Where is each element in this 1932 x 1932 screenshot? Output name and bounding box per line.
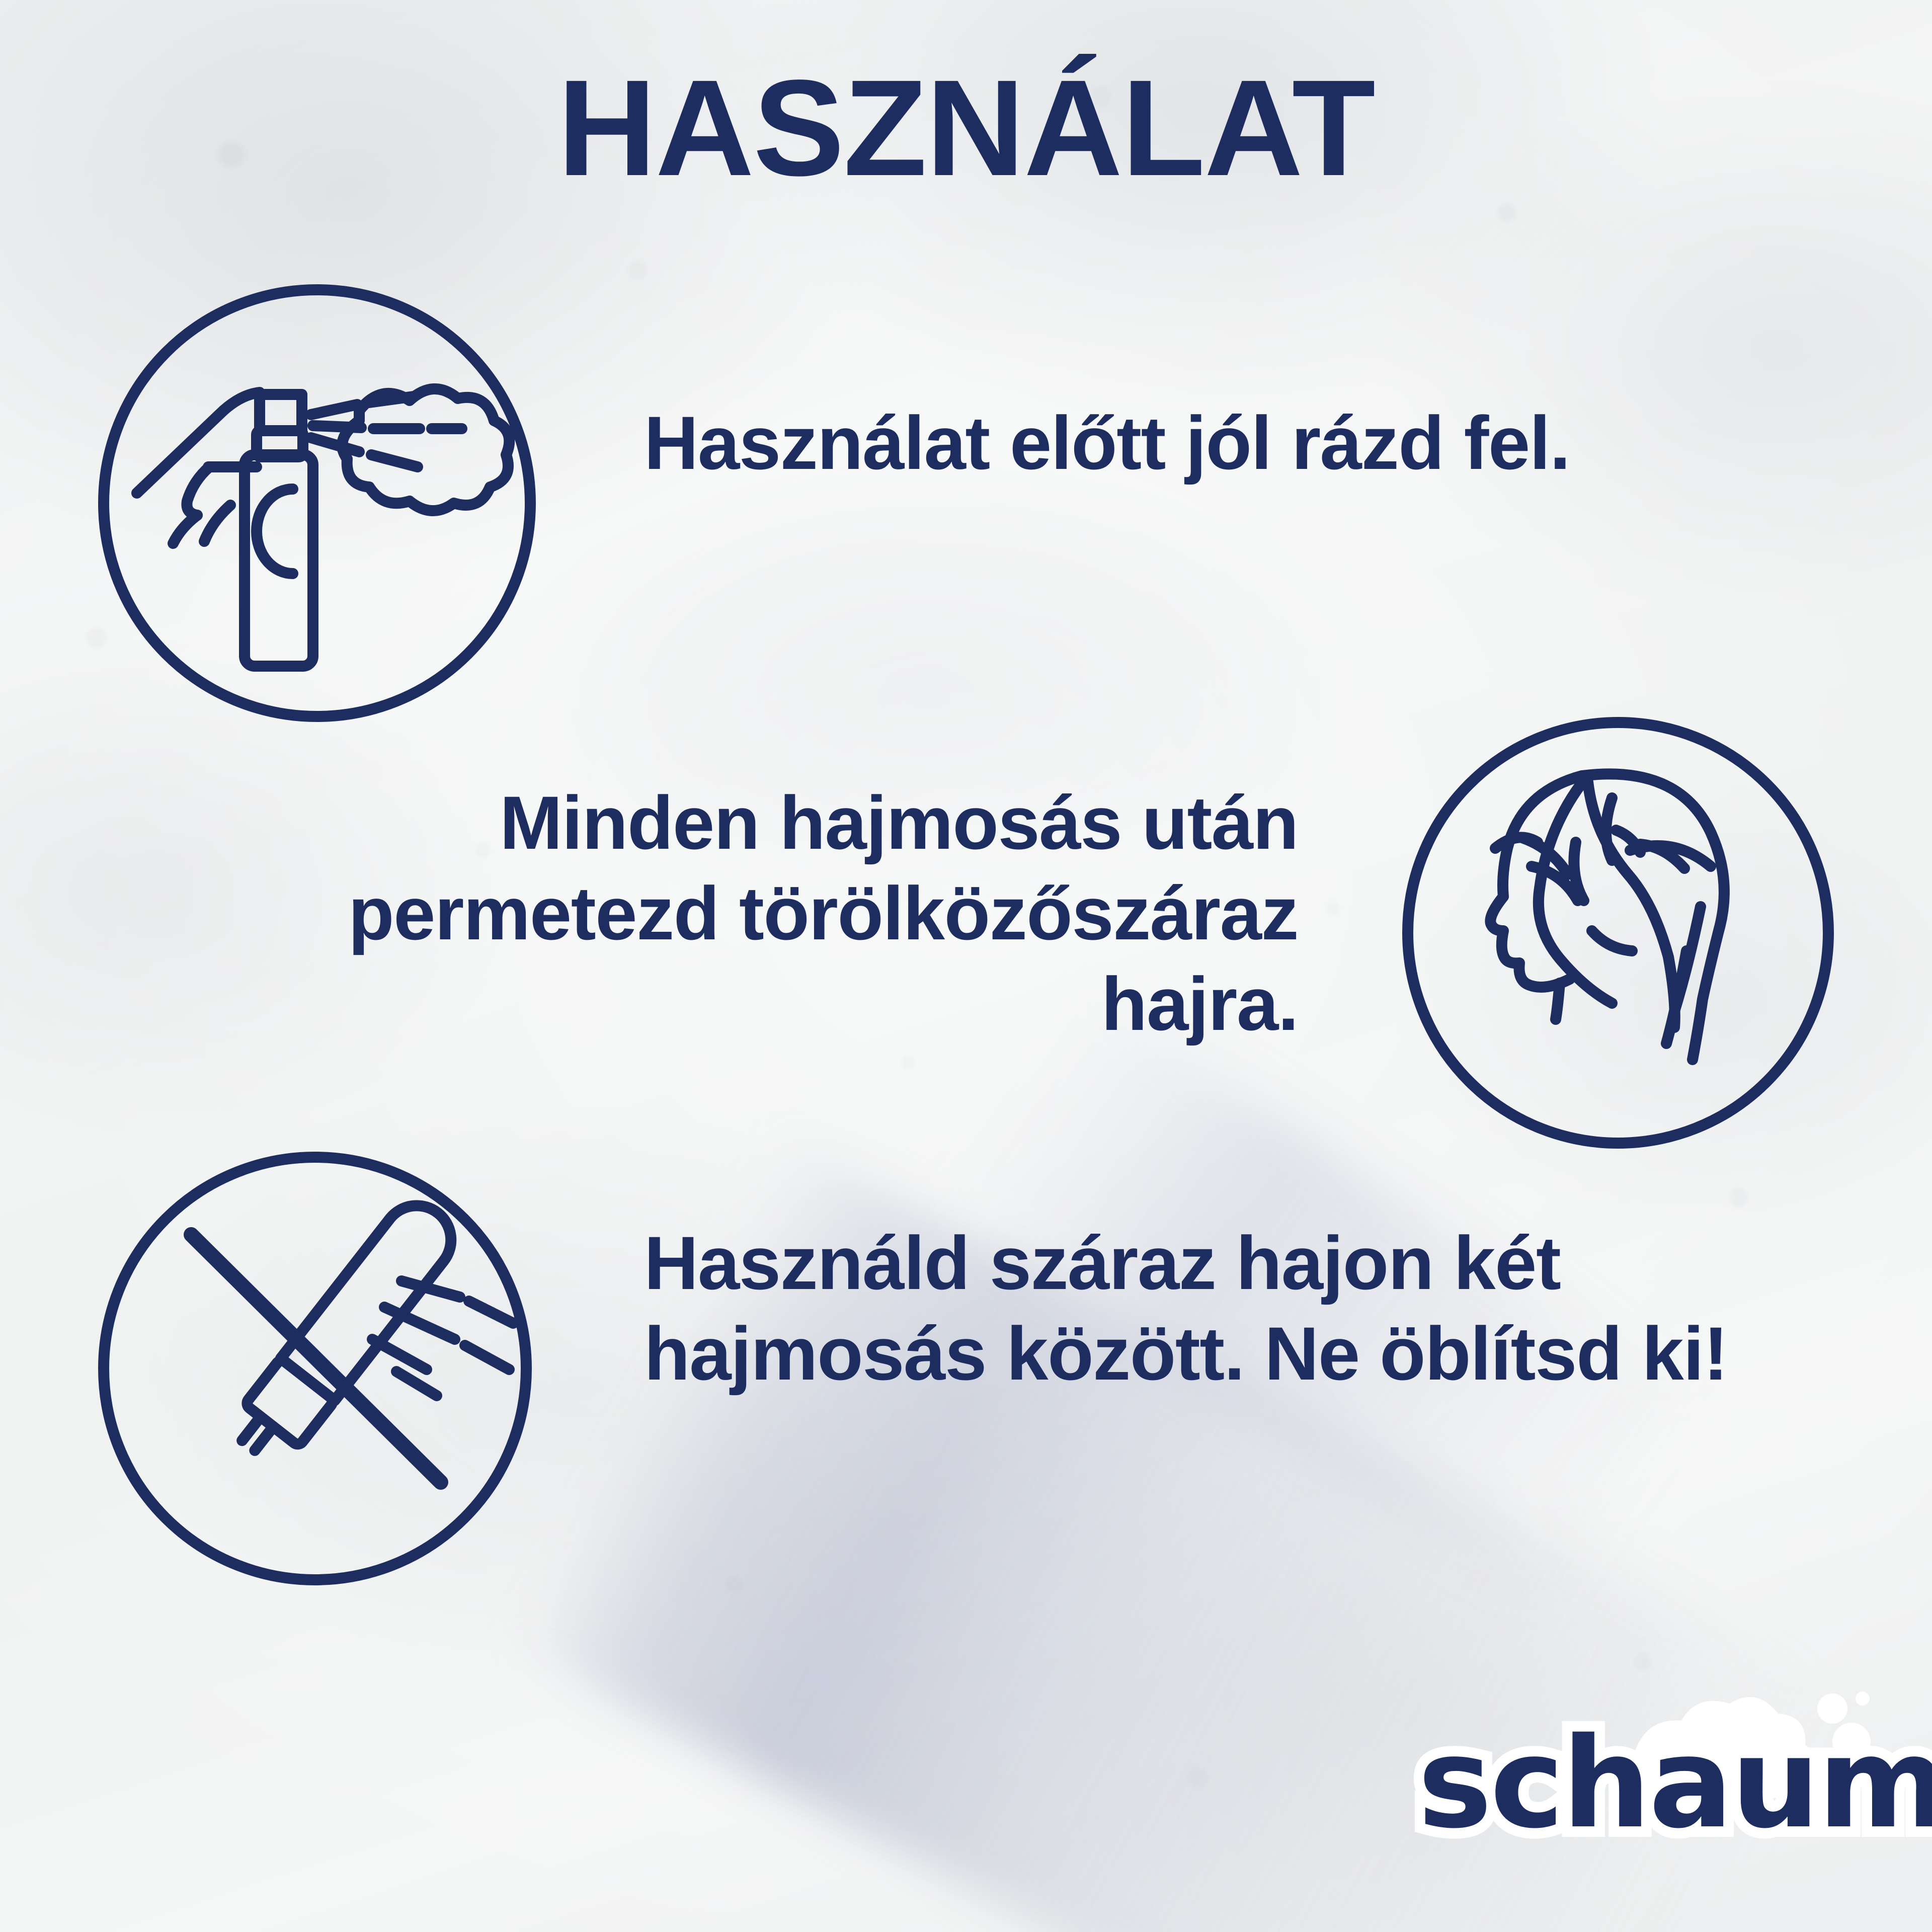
no-rinse-spray-icon: [95, 1148, 535, 1589]
step-2-text: Minden hajmosás után permetezd törölköző…: [216, 777, 1298, 1049]
schauma-logo: schauma: [1353, 1675, 1887, 1892]
schauma-wordmark-text: schauma: [1418, 1711, 1932, 1856]
step-1-text: Használat előtt jól rázd fel.: [644, 397, 1751, 488]
schauma-wordmark: schauma: [1353, 1675, 1887, 1892]
step-3-text: Használd száraz hajon két hajmosás közöt…: [644, 1218, 1816, 1399]
woman-head-hair-icon: [1399, 713, 1837, 1152]
hand-spray-bottle-icon: [96, 282, 538, 725]
usage-instructions-poster: HASZNÁLAT: [0, 0, 1932, 1932]
page-title: HASZNÁLAT: [0, 59, 1932, 196]
